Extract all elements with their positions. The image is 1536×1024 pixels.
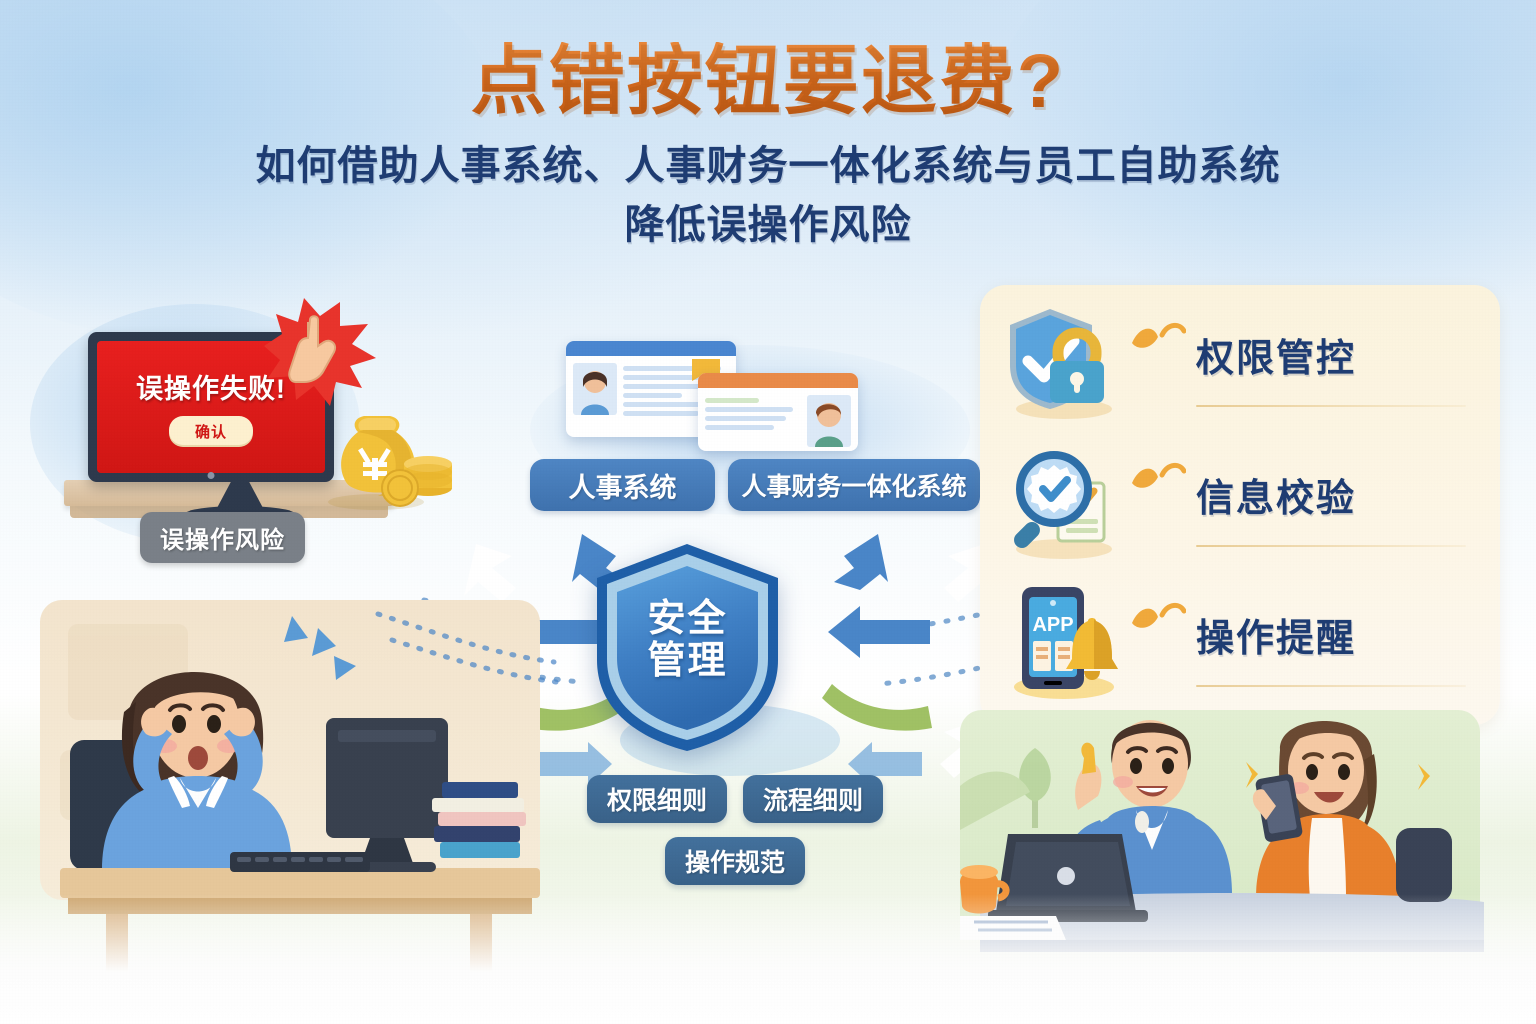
office-chair-right <box>1396 828 1452 902</box>
avatar <box>573 363 617 415</box>
avatar <box>807 395 851 447</box>
stress-lines <box>284 616 356 680</box>
card-a-titlebar <box>566 341 736 356</box>
monitor-power-led <box>208 472 215 479</box>
sparkle-accent-icon <box>1128 599 1186 639</box>
shield-text-line1: 安全 <box>647 599 727 640</box>
money-bag-yuan-icon <box>318 402 458 512</box>
feature-divider <box>1196 405 1466 407</box>
pointing-hand-cursor-icon <box>252 290 382 410</box>
shield-text: 安全 管理 <box>590 540 785 755</box>
shield-text-line2: 管理 <box>647 641 727 682</box>
feature-divider <box>1196 545 1466 547</box>
system-pill-hr-finance[interactable]: 人事财务一体化系统 <box>728 459 980 511</box>
sparkle-accent-icon <box>1128 459 1186 499</box>
subtitle-line-2: 降低误操作风险 <box>0 197 1536 254</box>
infographic-canvas: 点错按钮要退费? 如何借助人事系统、人事财务一体化系统与员工自助系统 降低误操作… <box>0 0 1536 1024</box>
feature-label-permission: 权限管控 <box>1196 327 1356 382</box>
magnifier-checklist-icon <box>1006 443 1126 561</box>
feature-label-reminder: 操作提醒 <box>1196 607 1356 662</box>
subtitle-line-1: 如何借助人事系统、人事财务一体化系统与员工自助系统 <box>0 138 1536 195</box>
center-bottom-pill-group: 权限细则 流程细则 操作规范 <box>520 775 950 885</box>
dotted-accent <box>378 614 556 682</box>
app-phone-bell-icon: APP <box>1006 583 1126 701</box>
card-b-text-lines <box>705 395 801 447</box>
left-error-scene: 误操作失败! 确认 <box>30 290 450 580</box>
pill-rule-process[interactable]: 流程细则 <box>743 775 883 823</box>
feature-item-verification[interactable]: 信息校验 <box>980 433 1500 573</box>
error-confirm-button[interactable]: 确认 <box>169 416 253 447</box>
pill-row-1: 权限细则 流程细则 <box>520 775 950 823</box>
woman-with-smartphone <box>1253 721 1400 898</box>
sparkle-accent-icon <box>1128 319 1186 359</box>
card-b-body <box>698 388 858 451</box>
feature-divider <box>1196 685 1466 687</box>
title-block: 点错按钮要退费? 如何借助人事系统、人事财务一体化系统与员工自助系统 降低误操作… <box>0 42 1536 253</box>
card-b-titlebar <box>698 373 858 388</box>
feature-item-permission[interactable]: 权限管控 <box>980 293 1500 433</box>
pill-rule-permission[interactable]: 权限细则 <box>587 775 727 823</box>
pill-rule-operation[interactable]: 操作规范 <box>665 837 805 885</box>
keyboard <box>230 852 370 872</box>
app-screen-label: APP <box>1032 614 1073 636</box>
shield-lock-icon <box>1006 303 1126 421</box>
bottom-fade <box>0 894 1536 1024</box>
payroll-record-card-icon <box>698 373 858 451</box>
monitor <box>326 718 448 872</box>
pill-row-2: 操作规范 <box>520 837 950 885</box>
book-stack <box>432 782 526 858</box>
risk-badge: 误操作风险 <box>140 512 305 563</box>
main-title: 点错按钮要退费? <box>0 42 1536 122</box>
feature-label-verification: 信息校验 <box>1196 467 1356 522</box>
right-feature-panel: 权限管控 信息校 <box>980 285 1500 725</box>
system-pill-hr[interactable]: 人事系统 <box>530 459 715 511</box>
tree-background <box>960 748 1051 830</box>
center-systems-block: 人事系统 人事财务一体化系统 <box>520 325 990 525</box>
